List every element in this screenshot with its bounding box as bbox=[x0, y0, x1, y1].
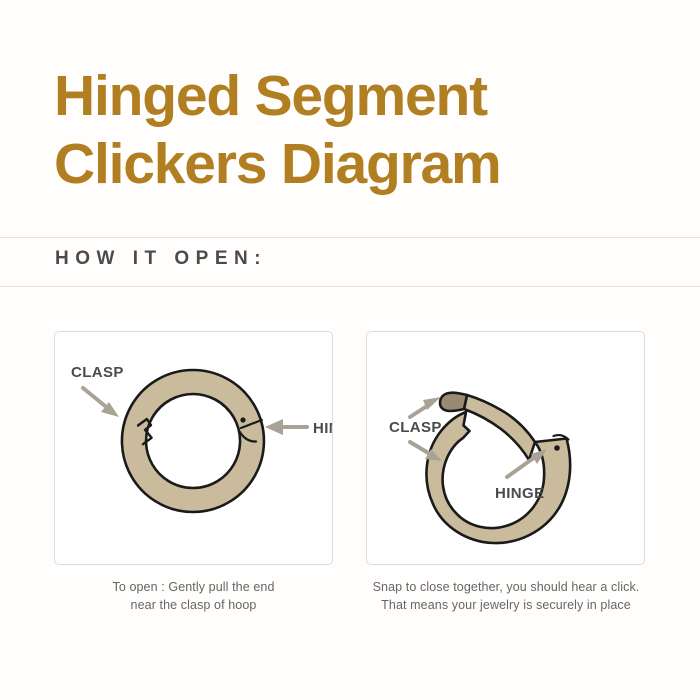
title-line-1: Hinged Segment bbox=[54, 62, 654, 130]
hinge-label: HINGE bbox=[495, 485, 545, 502]
panel-closed-ring: CLASP HINGE bbox=[54, 331, 333, 565]
caption-right-line-1: Snap to close together, you should hear … bbox=[356, 578, 656, 596]
clasp-pin-tip bbox=[440, 393, 467, 411]
hinge-label: HINGE bbox=[313, 420, 332, 437]
clasp-label: CLASP bbox=[71, 364, 124, 381]
diagram-page: Hinged Segment Clickers Diagram HOW IT O… bbox=[0, 0, 700, 700]
ring-body bbox=[122, 370, 264, 512]
caption-left-line-1: To open : Gently pull the end bbox=[54, 578, 333, 596]
caption-left-line-2: near the clasp of hoop bbox=[54, 596, 333, 614]
caption-right-line-2: That means your jewelry is securely in p… bbox=[356, 596, 656, 614]
caption-open-ring: Snap to close together, you should hear … bbox=[356, 578, 656, 614]
closed-ring-illustration: CLASP HINGE bbox=[55, 332, 332, 564]
clasp-arrow bbox=[83, 388, 119, 417]
section-heading: HOW IT OPEN: bbox=[55, 248, 267, 270]
open-ring-illustration: CLASP HINGE bbox=[367, 332, 644, 564]
hinge-pin-dot bbox=[554, 445, 560, 451]
ring-main-segment bbox=[426, 412, 570, 543]
section-divider-top bbox=[0, 237, 700, 238]
caption-closed-ring: To open : Gently pull the end near the c… bbox=[54, 578, 333, 614]
ring-hinged-segment bbox=[464, 395, 535, 460]
hinge-arrow bbox=[265, 419, 307, 435]
clasp-label: CLASP bbox=[389, 419, 442, 436]
page-title: Hinged Segment Clickers Diagram bbox=[54, 62, 654, 198]
section-divider-bottom bbox=[0, 286, 700, 287]
hinge-pin-dot bbox=[240, 417, 245, 422]
clasp-arrow-upper bbox=[410, 397, 441, 417]
title-line-2: Clickers Diagram bbox=[54, 130, 654, 198]
panel-open-ring: CLASP HINGE bbox=[366, 331, 645, 565]
